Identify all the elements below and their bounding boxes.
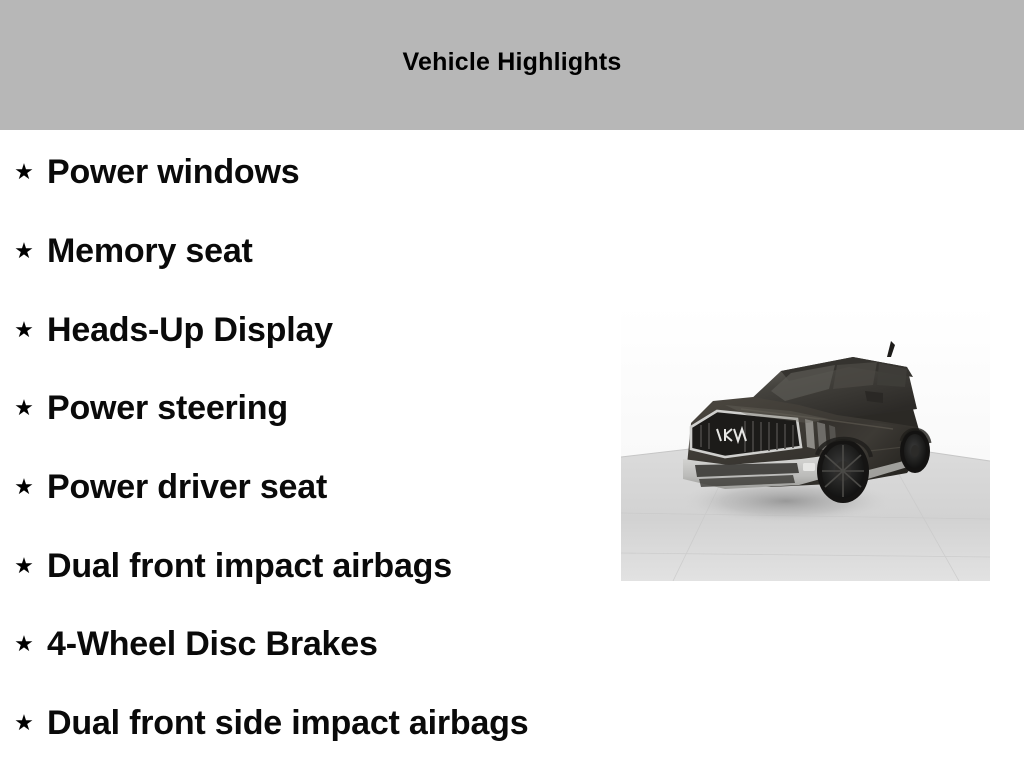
list-item: ★ Power driver seat	[0, 448, 610, 527]
list-item: ★ Dual front side impact airbags	[0, 684, 610, 763]
list-item: ★ 4-Wheel Disc Brakes	[0, 605, 610, 684]
front-side-window	[833, 362, 877, 389]
list-item: ★ Memory seat	[0, 212, 610, 291]
vehicle-highlights-list: ★ Power windows ★ Memory seat ★ Heads-Up…	[0, 133, 610, 763]
star-icon: ★	[14, 391, 34, 425]
vehicle-photo	[621, 305, 990, 581]
slide-canvas: Vehicle Highlights ★ Power windows ★ Mem…	[0, 0, 1024, 768]
highlight-label: Memory seat	[47, 234, 610, 268]
page-title: Vehicle Highlights	[0, 0, 1024, 130]
highlight-label: Power steering	[47, 391, 610, 425]
star-icon: ★	[14, 627, 34, 661]
list-item: ★ Power windows	[0, 133, 610, 212]
highlight-label: Heads-Up Display	[47, 313, 610, 347]
list-item: ★ Heads-Up Display	[0, 290, 610, 369]
list-item: ★ Power steering	[0, 369, 610, 448]
fog-light	[803, 463, 815, 471]
highlight-label: Dual front impact airbags	[47, 549, 610, 583]
vehicle-photo-image	[621, 305, 990, 581]
star-icon: ★	[14, 313, 34, 347]
highlight-label: Dual front side impact airbags	[47, 706, 610, 740]
highlight-label: 4-Wheel Disc Brakes	[47, 627, 610, 661]
list-item: ★ Dual front impact airbags	[0, 526, 610, 605]
star-icon: ★	[14, 155, 34, 189]
highlight-label: Power windows	[47, 155, 610, 189]
star-icon: ★	[14, 549, 34, 583]
star-icon: ★	[14, 706, 34, 740]
front-wheel	[817, 439, 869, 503]
star-icon: ★	[14, 470, 34, 504]
highlight-label: Power driver seat	[47, 470, 610, 504]
star-icon: ★	[14, 234, 34, 268]
